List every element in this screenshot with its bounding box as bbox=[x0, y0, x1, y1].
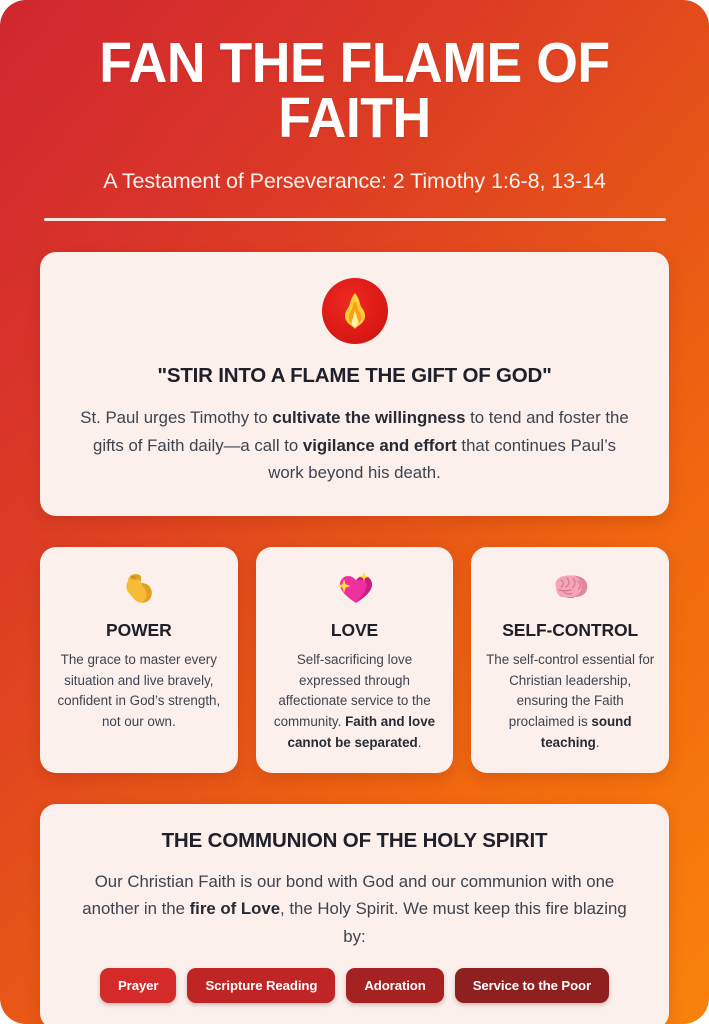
hero-card: "STIR INTO A FLAME THE GIFT OF GOD" St. … bbox=[40, 252, 669, 516]
trait-card-love: LOVE Self-sacrificing love expressed thr… bbox=[256, 547, 454, 773]
communion-body-emphasis: fire of Love bbox=[190, 899, 280, 918]
practice-pill-row: Prayer Scripture Reading Adoration Servi… bbox=[70, 968, 639, 1003]
trait-card-self-control: SELF-CONTROL The self-control essential … bbox=[471, 547, 669, 773]
communion-card: THE COMMUNION OF THE HOLY SPIRIT Our Chr… bbox=[40, 804, 669, 1024]
poster-header: FAN THE FLAME OF FAITH A Testament of Pe… bbox=[40, 0, 669, 221]
hero-body-emphasis-2: vigilance and effort bbox=[303, 436, 457, 455]
brain-icon bbox=[548, 565, 592, 611]
hero-body-emphasis-1: cultivate the willingness bbox=[272, 408, 465, 427]
page-title: FAN THE FLAME OF FAITH bbox=[59, 36, 650, 145]
practice-pill-prayer[interactable]: Prayer bbox=[100, 968, 176, 1003]
trait-body: Self-sacrificing love expressed through … bbox=[270, 650, 440, 753]
hero-body: St. Paul urges Timothy to cultivate the … bbox=[74, 404, 635, 486]
flexed-biceps-icon bbox=[119, 565, 159, 611]
communion-heading: THE COMMUNION OF THE HOLY SPIRIT bbox=[70, 829, 639, 853]
fire-icon bbox=[322, 278, 388, 344]
trait-title: SELF-CONTROL bbox=[502, 620, 638, 641]
trait-card-power: POWER The grace to master every situatio… bbox=[40, 547, 238, 773]
trait-body-text-2: . bbox=[418, 735, 422, 750]
practice-pill-adoration[interactable]: Adoration bbox=[346, 968, 443, 1003]
trait-body-text-2: . bbox=[596, 735, 600, 750]
page-subtitle: A Testament of Perseverance: 2 Timothy 1… bbox=[40, 169, 669, 194]
sparkling-heart-icon bbox=[333, 565, 375, 611]
trait-title: LOVE bbox=[331, 620, 378, 641]
trait-body-text-1: The grace to master every situation and … bbox=[57, 652, 220, 729]
practice-pill-scripture-reading[interactable]: Scripture Reading bbox=[187, 968, 335, 1003]
poster-canvas: FAN THE FLAME OF FAITH A Testament of Pe… bbox=[0, 0, 709, 1024]
trait-body: The grace to master every situation and … bbox=[54, 650, 224, 733]
communion-body: Our Christian Faith is our bond with God… bbox=[70, 868, 639, 950]
trait-title: POWER bbox=[106, 620, 172, 641]
communion-body-text-2: , the Holy Spirit. We must keep this fir… bbox=[280, 899, 627, 945]
hero-body-text-1: St. Paul urges Timothy to bbox=[80, 408, 272, 427]
trait-body: The self-control essential for Christian… bbox=[485, 650, 655, 753]
header-divider bbox=[44, 218, 666, 221]
hero-heading: "STIR INTO A FLAME THE GIFT OF GOD" bbox=[74, 364, 635, 388]
practice-pill-service-to-the-poor[interactable]: Service to the Poor bbox=[455, 968, 609, 1003]
trait-card-grid: POWER The grace to master every situatio… bbox=[40, 547, 669, 773]
